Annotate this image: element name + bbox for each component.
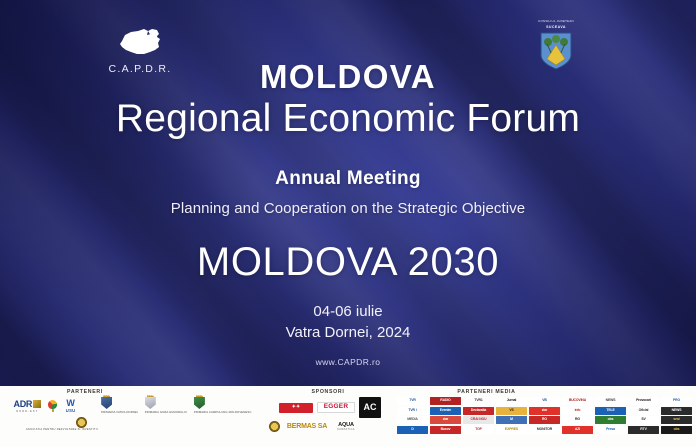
media-heading: PARTENERI MEDIA <box>395 389 696 395</box>
sponsor-logo-bermas: BERMAS SA <box>283 421 331 432</box>
usu-label: USU <box>64 408 77 413</box>
partner-logo-crest-1: PRIMARIA VATRA DORNEI <box>101 397 138 414</box>
balloon-basket-icon <box>52 409 54 412</box>
media-logo: CRAI NOU <box>463 416 494 424</box>
media-logo: M <box>496 416 527 424</box>
media-logo: MEDIA <box>397 416 428 424</box>
media-logo: obs <box>661 426 692 434</box>
website-url[interactable]: www.CAPDR.ro <box>0 357 696 367</box>
media-logo: EXPRES <box>496 426 527 434</box>
adr-caption: NORD-EST <box>14 410 42 413</box>
title-top: MOLDOVA <box>0 58 696 96</box>
partners-heading: PARTENERI <box>0 389 265 395</box>
media-logo: Bucov <box>430 426 461 434</box>
media-partners-section: PARTENERI MEDIA TVRRADIOTVR1JurnalVBBUCO… <box>395 386 696 447</box>
partners-footnote: ASOCIATIA PENTRU DEZVOLTARE SI INVESTITI… <box>26 429 265 432</box>
title-main: Regional Economic Forum <box>0 97 696 141</box>
partner-logo-adr: ADR NORD-EST <box>14 399 42 413</box>
media-logo: seal <box>661 416 692 424</box>
crest-2-caption: PRIMARIA GURA HUMORULUI <box>145 411 187 414</box>
partner-logo-crest-3: PRIMARIA CAMPULUNG MOLDOVENESC <box>194 397 252 414</box>
subtitle-bold: Annual Meeting <box>0 168 696 190</box>
media-logo: info <box>562 407 593 415</box>
media-logo: Oficial <box>628 407 659 415</box>
usu-mark-icon: W <box>64 399 77 408</box>
partner-logo-usu: W USU <box>64 399 77 413</box>
event-date: 04-06 iulie <box>0 303 696 320</box>
aqua-sub: CARPATICA <box>334 428 358 431</box>
media-logo: ziar <box>430 416 461 424</box>
media-logo: SV <box>628 416 659 424</box>
media-logo: NEWS <box>661 407 692 415</box>
event-poster: C.A.P.D.R. CONSILIUL JUDETEAN SUCEAVA MO… <box>0 0 696 447</box>
media-logo: RADIO <box>430 397 461 405</box>
event-location: Vatra Dornei, 2024 <box>0 324 696 341</box>
media-logo: TVR <box>397 397 428 405</box>
media-logo: VB <box>529 397 560 405</box>
partner-seal-icon <box>76 417 87 428</box>
subtitle-line: Planning and Cooperation on the Strategi… <box>0 200 696 217</box>
media-logo: AZI <box>562 426 593 434</box>
media-logo: TVR1 <box>463 397 494 405</box>
adr-wordmark: ADR <box>14 399 33 409</box>
crest-title: CONSILIUL JUDETEAN <box>527 20 585 24</box>
media-logo: Evenim <box>430 407 461 415</box>
media-logo: NEWS <box>595 397 626 405</box>
media-logo: TOP <box>463 426 494 434</box>
sponsor-logo-egger: EGGER <box>317 402 355 413</box>
sponsors-section: SPONSORI ✦✦ EGGER AC BERMAS SA AQUA CARP… <box>265 386 395 447</box>
sponsor-seal-icon <box>269 421 280 432</box>
partner-logo-balloon <box>48 400 57 411</box>
sponsor-logo-ac: AC <box>359 397 381 418</box>
sponsor-footer: PARTENERI ADR NORD-EST W USU <box>0 386 696 447</box>
partners-section: PARTENERI ADR NORD-EST W USU <box>0 386 265 447</box>
media-logo: RG <box>562 416 593 424</box>
media-logo: RO <box>529 416 560 424</box>
headline: MOLDOVA 2030 <box>0 240 696 285</box>
media-logo: BUCOVINA <box>562 397 593 405</box>
media-logo: ziar <box>529 407 560 415</box>
media-logo-grid: TVRRADIOTVR1JurnalVBBUCOVINANEWSProvocar… <box>395 397 696 434</box>
media-logo: MONITOR <box>529 426 560 434</box>
ac-mark: AC <box>364 403 377 412</box>
crest-subtitle: SUCEAVA <box>527 25 585 29</box>
media-logo: PRO <box>661 397 692 405</box>
media-logo: D <box>397 426 428 434</box>
media-logo: TVR i <box>397 407 428 415</box>
romania-map-icon <box>114 26 166 58</box>
sponsor-logo-aqua: AQUA CARPATICA <box>334 422 358 431</box>
media-logo: RTV <box>628 426 659 434</box>
sponsor-logo-red: ✦✦ <box>279 403 313 413</box>
adr-square-icon <box>33 400 41 408</box>
media-logo: Jurnal <box>496 397 527 405</box>
media-logo: Presa <box>595 426 626 434</box>
crest-3-caption: PRIMARIA CAMPULUNG MOLDOVENESC <box>194 411 252 414</box>
media-logo: Provocari <box>628 397 659 405</box>
balloon-icon <box>48 400 57 409</box>
media-logo: obs <box>595 416 626 424</box>
media-logo: Declaratia <box>463 407 494 415</box>
partner-logo-crest-2: PRIMARIA GURA HUMORULUI <box>145 397 187 414</box>
media-logo: VS <box>496 407 527 415</box>
media-logo: TELE <box>595 407 626 415</box>
sponsors-heading: SPONSORI <box>265 389 395 395</box>
crest-1-caption: PRIMARIA VATRA DORNEI <box>101 411 138 414</box>
